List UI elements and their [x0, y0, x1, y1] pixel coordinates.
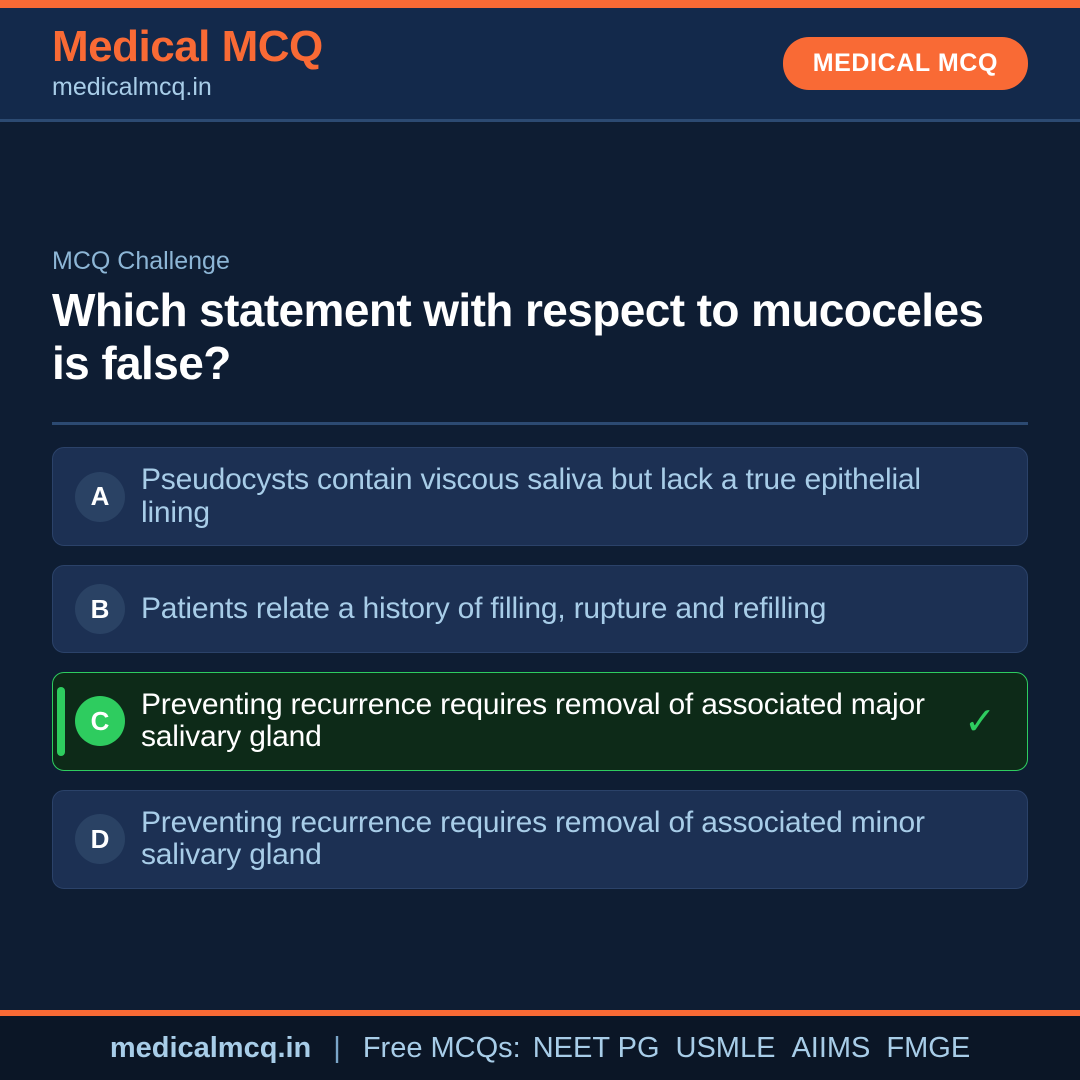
footer-exams: NEET PGUSMLEAIIMSFMGE [533, 1032, 970, 1065]
footer-exam-usmle: USMLE [676, 1032, 776, 1064]
option-b[interactable]: BPatients relate a history of filling, r… [52, 565, 1028, 653]
footer-exam-aiims: AIIMS [791, 1032, 870, 1064]
brand: Medical MCQ medicalmcq.in [52, 24, 323, 103]
brand-subtitle: medicalmcq.in [52, 72, 323, 103]
footer-label: Free MCQs: [363, 1032, 521, 1065]
option-d[interactable]: DPreventing recurrence requires removal … [52, 790, 1028, 889]
option-c[interactable]: CPreventing recurrence requires removal … [52, 672, 1028, 771]
footer-content: medicalmcq.in | Free MCQs: NEET PGUSMLEA… [110, 1032, 970, 1065]
footer-exam-fmge: FMGE [886, 1032, 970, 1064]
option-text: Patients relate a history of filling, ru… [141, 593, 947, 625]
option-text: Pseudocysts contain viscous saliva but l… [141, 464, 947, 529]
brand-title: Medical MCQ [52, 24, 323, 70]
main-content: MCQ Challenge Which statement with respe… [0, 125, 1080, 1010]
footer-site: medicalmcq.in [110, 1032, 311, 1065]
option-letter-badge: C [75, 696, 125, 746]
question-divider [52, 422, 1028, 425]
footer-exam-neet-pg: NEET PG [533, 1032, 660, 1064]
option-text: Preventing recurrence requires removal o… [141, 689, 947, 754]
options-list: APseudocysts contain viscous saliva but … [52, 447, 1028, 888]
option-text: Preventing recurrence requires removal o… [141, 807, 947, 872]
check-icon: ✓ [957, 699, 1003, 744]
top-accent-bar [0, 0, 1080, 8]
page-footer: medicalmcq.in | Free MCQs: NEET PGUSMLEA… [0, 1010, 1080, 1080]
option-letter-badge: B [75, 584, 125, 634]
page-header: Medical MCQ medicalmcq.in MEDICAL MCQ [0, 8, 1080, 122]
option-letter-badge: A [75, 472, 125, 522]
eyebrow-label: MCQ Challenge [52, 246, 1028, 277]
option-a[interactable]: APseudocysts contain viscous saliva but … [52, 447, 1028, 546]
correct-accent-bar [57, 687, 65, 756]
question-text: Which statement with respect to mucocele… [52, 284, 1012, 391]
brand-badge: MEDICAL MCQ [783, 37, 1028, 90]
footer-separator: | [333, 1032, 341, 1065]
option-letter-badge: D [75, 814, 125, 864]
